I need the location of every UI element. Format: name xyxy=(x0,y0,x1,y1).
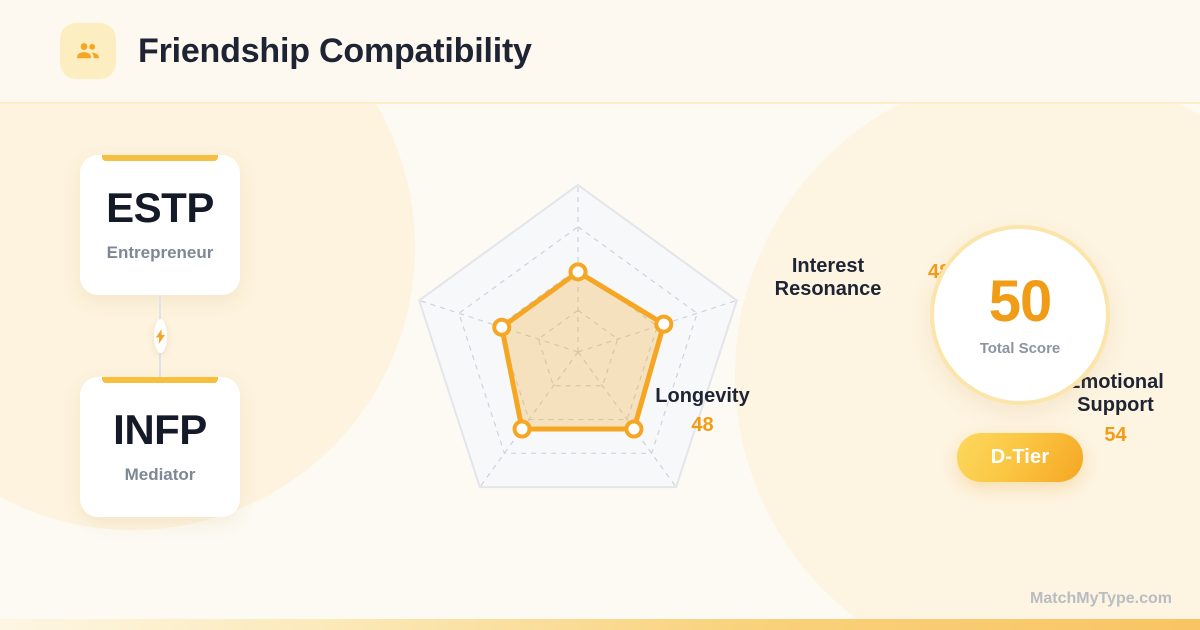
total-score-dial: 50 Total Score xyxy=(930,225,1110,405)
score-panel: 50 Total Score D-Tier xyxy=(905,225,1135,482)
type-card-first[interactable]: ESTP Entrepreneur xyxy=(80,155,240,295)
type-connector xyxy=(159,295,161,377)
lightning-bolt-icon xyxy=(154,319,167,353)
bottom-accent-bar xyxy=(0,619,1200,630)
total-score-caption: Total Score xyxy=(980,340,1061,357)
type-code-first: ESTP xyxy=(106,187,214,229)
tier-badge: D-Tier xyxy=(957,433,1084,482)
type-role-second: Mediator xyxy=(125,465,196,485)
header-bar: Friendship Compatibility xyxy=(0,0,1200,104)
radar-svg xyxy=(328,110,828,610)
type-code-second: INFP xyxy=(113,409,207,451)
total-score-value: 50 xyxy=(989,273,1052,331)
type-card-second[interactable]: INFP Mediator xyxy=(80,377,240,517)
compatibility-card: Friendship Compatibility ESTP Entreprene… xyxy=(0,0,1200,630)
page-title: Friendship Compatibility xyxy=(138,32,532,71)
people-group-icon xyxy=(60,23,116,79)
type-role-first: Entrepreneur xyxy=(107,243,214,263)
radar-chart: Interest Resonance 48 Emotional Support … xyxy=(328,110,828,610)
watermark: MatchMyType.com xyxy=(1030,590,1172,608)
type-pair: ESTP Entrepreneur INFP Mediator xyxy=(80,155,240,517)
